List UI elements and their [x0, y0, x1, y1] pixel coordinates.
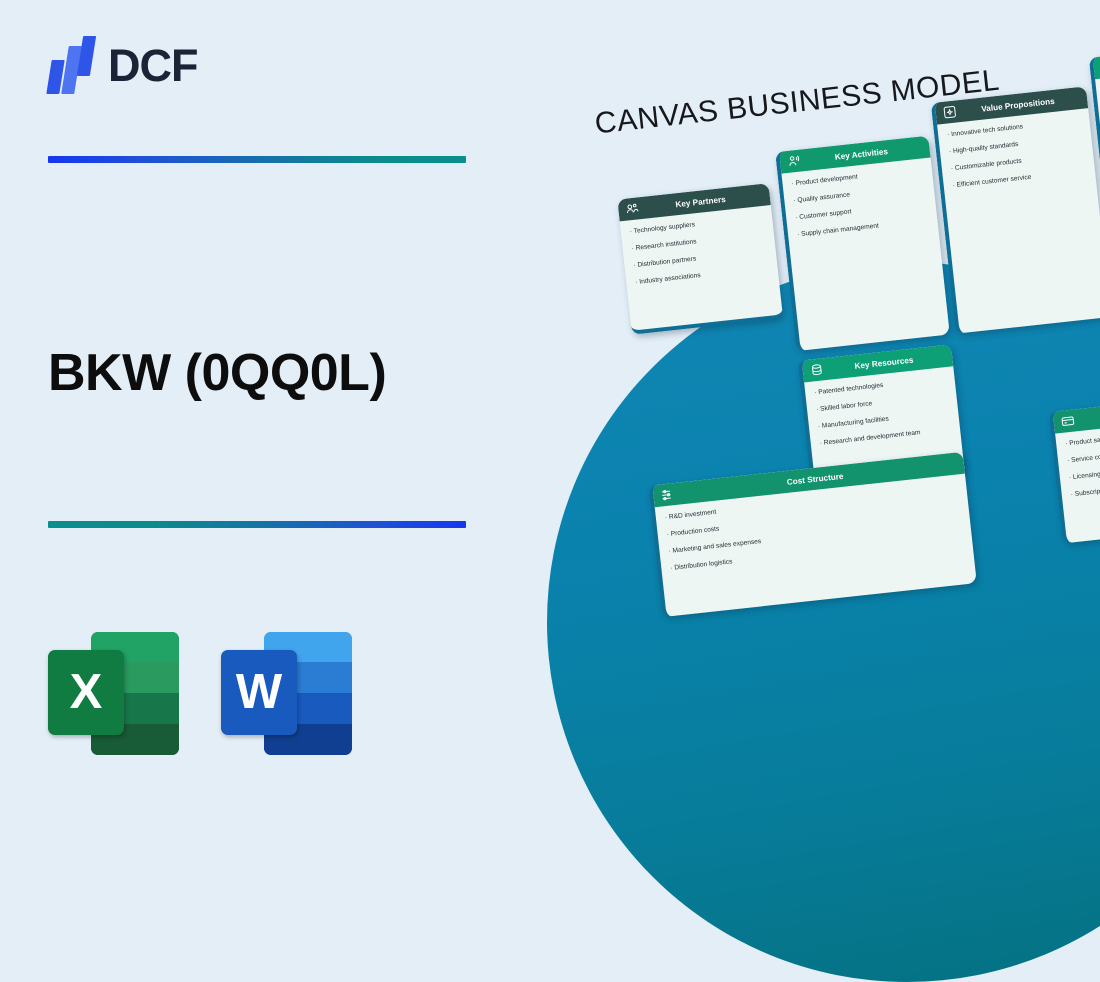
- canvas-card-cost-structure[interactable]: Cost Structure R&D investment Production…: [648, 452, 976, 617]
- business-model-canvas-graphic: CANVAS BUSINESS MODEL Key Partners Techn…: [600, 60, 1100, 620]
- gift-icon: [942, 104, 957, 119]
- canvas-card-item: Efficient customer service: [952, 167, 1087, 189]
- canvas-card-item: Research and development team: [819, 425, 952, 447]
- database-icon: [809, 362, 824, 377]
- canvas-card-value-propositions[interactable]: Value Propositions Innovative tech solut…: [931, 86, 1100, 333]
- divider-top: [48, 156, 466, 163]
- brand-logo-text: DCF: [108, 43, 197, 88]
- word-icon-letter: W: [221, 650, 297, 735]
- brand-logo[interactable]: DCF: [48, 36, 197, 94]
- excel-icon-letter: X: [48, 650, 124, 735]
- page-title: BKW (0QQ0L): [48, 345, 386, 402]
- canvas-card-key-activities[interactable]: Key Activities Product development Quali…: [775, 136, 950, 351]
- card-icon: [1060, 413, 1075, 428]
- partners-icon: [625, 201, 640, 216]
- divider-bottom: [48, 521, 466, 528]
- excel-icon[interactable]: X: [48, 628, 179, 759]
- canvas-card-revenue-streams[interactable]: Revenue Streams Product sales Service co…: [1049, 387, 1100, 543]
- canvas-card-title: Revenue Streams: [1079, 394, 1100, 424]
- canvas-card-item: Industry associations: [635, 264, 770, 286]
- three-bar-mark-icon: [48, 36, 94, 94]
- activities-icon: [786, 154, 801, 169]
- file-format-icons: X W: [48, 628, 352, 759]
- sliders-icon: [660, 487, 675, 502]
- canvas-card-item: Supply chain management: [797, 217, 930, 239]
- word-icon[interactable]: W: [221, 628, 352, 759]
- canvas-card-key-partners[interactable]: Key Partners Technology suppliers Resear…: [617, 183, 783, 335]
